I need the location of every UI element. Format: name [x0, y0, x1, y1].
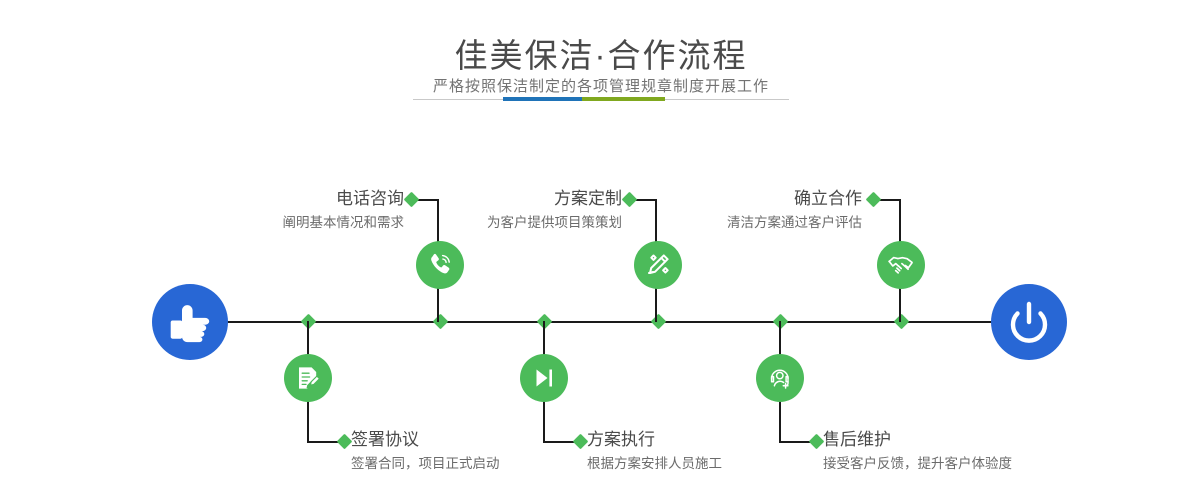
- step-6-desc: 接受客户反馈，提升客户体验度: [823, 454, 1153, 474]
- customer-support-icon-circle[interactable]: [756, 354, 804, 402]
- play-skip-icon: [530, 364, 558, 392]
- axis-node-marker: [894, 314, 910, 330]
- pencil-design-icon-circle[interactable]: [634, 241, 682, 289]
- step-5-title: 确立合作: [606, 188, 862, 210]
- page-subtitle: 严格按照保洁制定的各项管理规章制度开展工作: [0, 75, 1202, 99]
- axis-node-marker: [651, 314, 667, 330]
- step-6-label: 售后维护 接受客户反馈，提升客户体验度: [823, 429, 1153, 474]
- title-divider: [413, 99, 789, 100]
- flow-end-endpoint: [991, 284, 1067, 360]
- step-3-title: 方案定制: [360, 188, 622, 210]
- phone-call-icon-circle[interactable]: [416, 241, 464, 289]
- label-marker: [337, 434, 353, 450]
- process-flow-infographic: 佳美保洁·合作流程 严格按照保洁制定的各项管理规章制度开展工作: [0, 0, 1202, 502]
- phone-call-icon: [425, 250, 455, 280]
- step-5-desc: 清洁方案通过客户评估: [606, 213, 862, 233]
- step-3-desc: 为客户提供项目策策划: [360, 213, 622, 233]
- page-title: 佳美保洁·合作流程: [0, 34, 1202, 78]
- axis-node-marker: [433, 314, 449, 330]
- play-skip-icon-circle[interactable]: [520, 354, 568, 402]
- handshake-icon: [886, 250, 916, 280]
- flow-start-endpoint: [152, 284, 228, 360]
- power-icon: [991, 284, 1067, 360]
- step-3-label: 方案定制 为客户提供项目策策划: [360, 188, 622, 233]
- pointing-hand-icon: [152, 284, 228, 360]
- pencil-design-icon: [643, 250, 673, 280]
- document-edit-icon-circle[interactable]: [284, 354, 332, 402]
- step-6-title: 售后维护: [823, 429, 1153, 451]
- step-5-label: 确立合作 清洁方案通过客户评估: [606, 188, 862, 233]
- header: 佳美保洁·合作流程: [0, 34, 1202, 78]
- customer-support-icon: [766, 364, 794, 392]
- document-edit-icon: [294, 364, 322, 392]
- handshake-icon-circle[interactable]: [877, 241, 925, 289]
- label-marker: [866, 192, 882, 208]
